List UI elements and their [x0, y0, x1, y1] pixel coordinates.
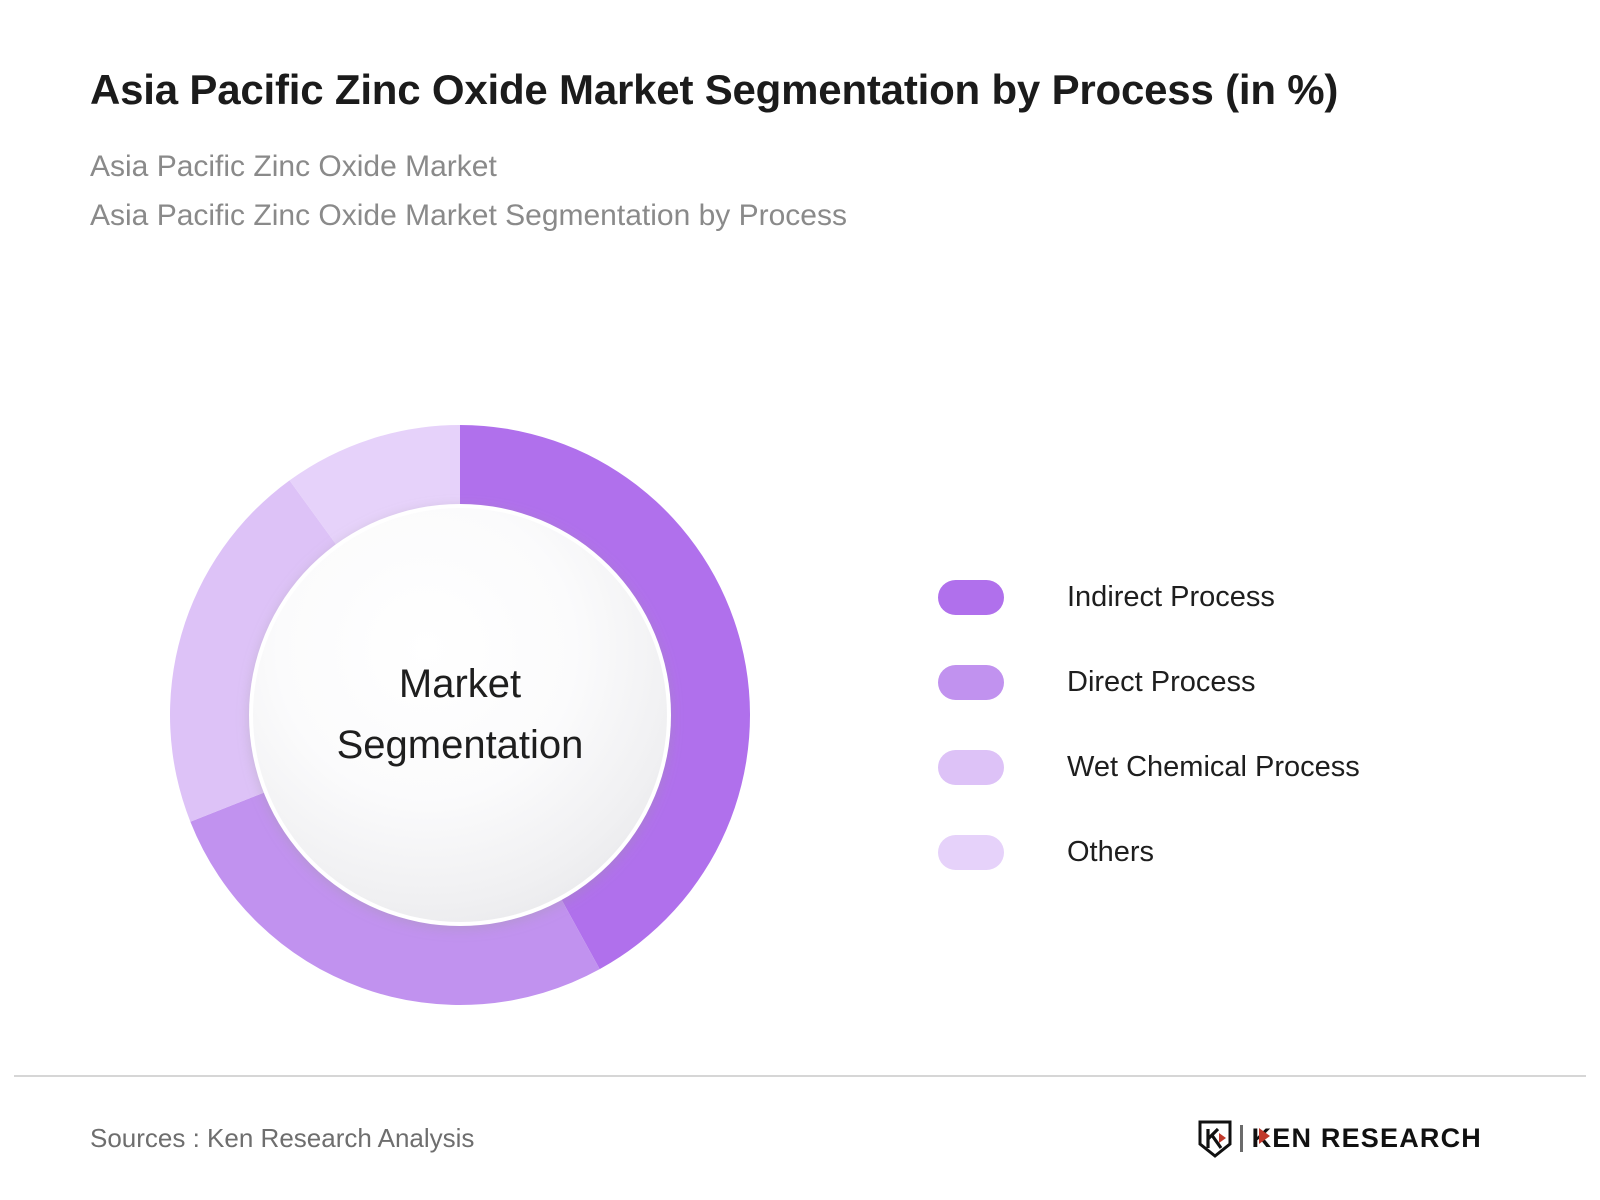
legend-swatch-icon [938, 580, 1004, 615]
legend-item[interactable]: Indirect Process [938, 555, 1498, 640]
chart-area: Market Segmentation Indirect ProcessDire… [0, 370, 1600, 1060]
page-title: Asia Pacific Zinc Oxide Market Segmentat… [90, 62, 1520, 117]
ken-research-shield-icon [1198, 1120, 1232, 1158]
donut-chart: Market Segmentation [170, 425, 750, 1005]
logo-wordmark: KEN RESEARCH [1252, 1123, 1482, 1154]
legend-item-label: Wet Chemical Process [1067, 751, 1360, 784]
subtitle-block: Asia Pacific Zinc Oxide Market Asia Paci… [90, 143, 1530, 240]
legend-item-label: Indirect Process [1067, 581, 1275, 614]
chart-legend: Indirect ProcessDirect ProcessWet Chemic… [938, 555, 1498, 895]
legend-item-label: Direct Process [1067, 666, 1256, 699]
ken-research-logo: KEN RESEARCH [1198, 1120, 1482, 1158]
donut-hub [253, 508, 667, 922]
chart-page: Asia Pacific Zinc Oxide Market Segmentat… [0, 0, 1600, 1200]
subtitle-line-2: Asia Pacific Zinc Oxide Market Segmentat… [90, 192, 1530, 241]
legend-item-label: Others [1067, 836, 1154, 869]
legend-item[interactable]: Wet Chemical Process [938, 725, 1498, 810]
chart-footer: Sources : Ken Research Analysis KEN RESE… [0, 1077, 1600, 1200]
legend-item[interactable]: Others [938, 810, 1498, 895]
subtitle-line-1: Asia Pacific Zinc Oxide Market [90, 143, 1530, 192]
legend-swatch-icon [938, 750, 1004, 785]
source-note: Sources : Ken Research Analysis [90, 1123, 474, 1154]
logo-divider [1240, 1125, 1243, 1152]
logo-wordmark-rest: EN RESEARCH [1272, 1123, 1482, 1154]
chart-header: Asia Pacific Zinc Oxide Market Segmentat… [90, 62, 1530, 241]
donut-svg [170, 425, 750, 1005]
legend-swatch-icon [938, 835, 1004, 870]
legend-item[interactable]: Direct Process [938, 640, 1498, 725]
legend-swatch-icon [938, 665, 1004, 700]
logo-k-letter: K [1252, 1123, 1273, 1154]
